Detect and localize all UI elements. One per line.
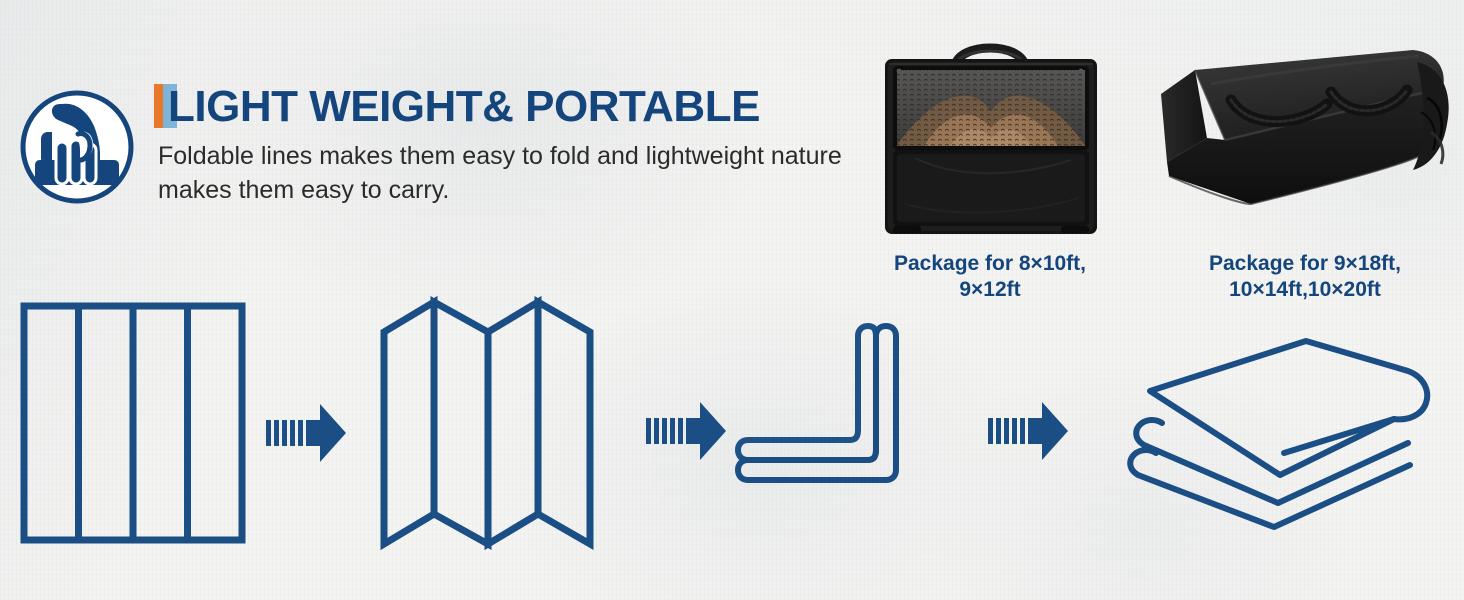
- carry-bag-mesh-icon: [875, 28, 1105, 243]
- stacked-folded-mat-icon: [1108, 335, 1452, 535]
- package-caption-2: Package for 9×18ft, 10×14ft,10×20ft: [1155, 251, 1455, 303]
- page-title: LIGHT WEIGHT& PORTABLE: [168, 82, 760, 132]
- striped-arrow-right-icon: [646, 400, 726, 462]
- package-caption-2-line1: Package for 9×18ft,: [1155, 251, 1455, 277]
- package-caption-1: Package for 8×10ft, 9×12ft: [875, 251, 1105, 303]
- flat-mat-panels-icon: [10, 292, 258, 554]
- package-block-1: Package for 8×10ft, 9×12ft: [875, 28, 1105, 303]
- striped-arrow-right-icon: [988, 400, 1068, 462]
- package-block-2: Package for 9×18ft, 10×14ft,10×20ft: [1155, 28, 1455, 303]
- page-subtitle: Foldable lines makes them easy to fold a…: [158, 139, 888, 207]
- fold-step-3: [728, 318, 928, 523]
- promo-banner: LIGHT WEIGHT& PORTABLE Foldable lines ma…: [0, 0, 1464, 600]
- title-row: LIGHT WEIGHT& PORTABLE: [154, 82, 888, 132]
- l-bent-folded-mat-icon: [728, 318, 928, 518]
- accordion-folded-mat-icon: [378, 292, 596, 554]
- duffel-bag-icon: [1155, 28, 1455, 243]
- package-caption-1-line2: 9×12ft: [875, 277, 1105, 303]
- header-text-block: LIGHT WEIGHT& PORTABLE Foldable lines ma…: [154, 82, 888, 207]
- package-caption-2-line2: 10×14ft,10×20ft: [1155, 277, 1455, 303]
- arrow-step-3-to-4: [988, 400, 1068, 467]
- package-caption-1-line1: Package for 8×10ft,: [875, 251, 1105, 277]
- header-block: LIGHT WEIGHT& PORTABLE Foldable lines ma…: [18, 82, 888, 207]
- fold-step-1: [10, 292, 258, 559]
- hand-grip-icon: [18, 88, 136, 206]
- fold-step-4: [1108, 335, 1452, 540]
- arrow-step-1-to-2: [266, 402, 346, 469]
- striped-arrow-right-icon: [266, 402, 346, 464]
- arrow-step-2-to-3: [646, 400, 726, 467]
- fold-step-2: [378, 292, 596, 559]
- accent-bar-orange: [154, 84, 163, 128]
